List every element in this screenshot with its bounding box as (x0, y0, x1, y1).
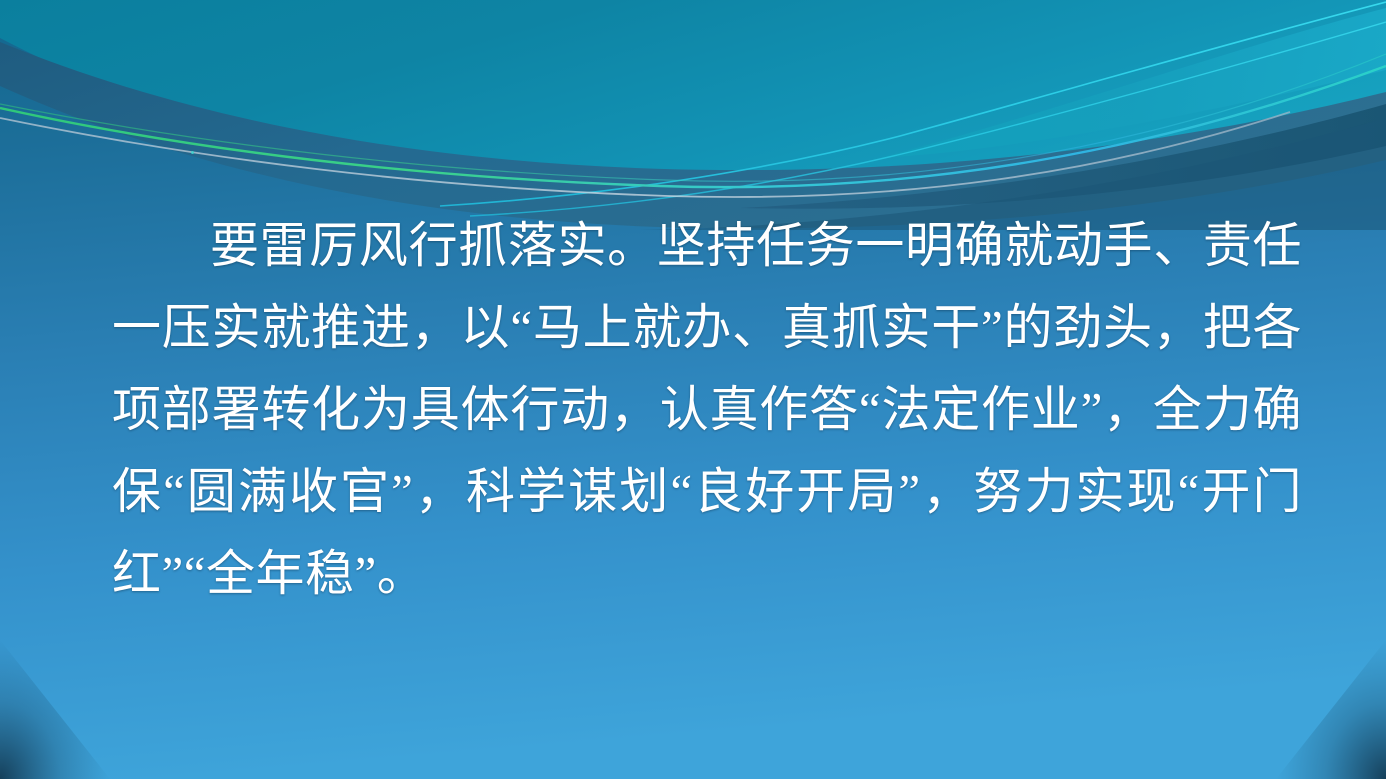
slide-body-text: 要雷厉风行抓落实。坚持任务一明确就动手、责任一压实就推进，以“马上就办、真抓实干… (112, 205, 1302, 615)
stray-pixel-artifact (191, 151, 194, 154)
slide-canvas: 要雷厉风行抓落实。坚持任务一明确就动手、责任一压实就推进，以“马上就办、真抓实干… (0, 0, 1386, 779)
body-paragraph: 要雷厉风行抓落实。坚持任务一明确就动手、责任一压实就推进，以“马上就办、真抓实干… (112, 205, 1302, 615)
